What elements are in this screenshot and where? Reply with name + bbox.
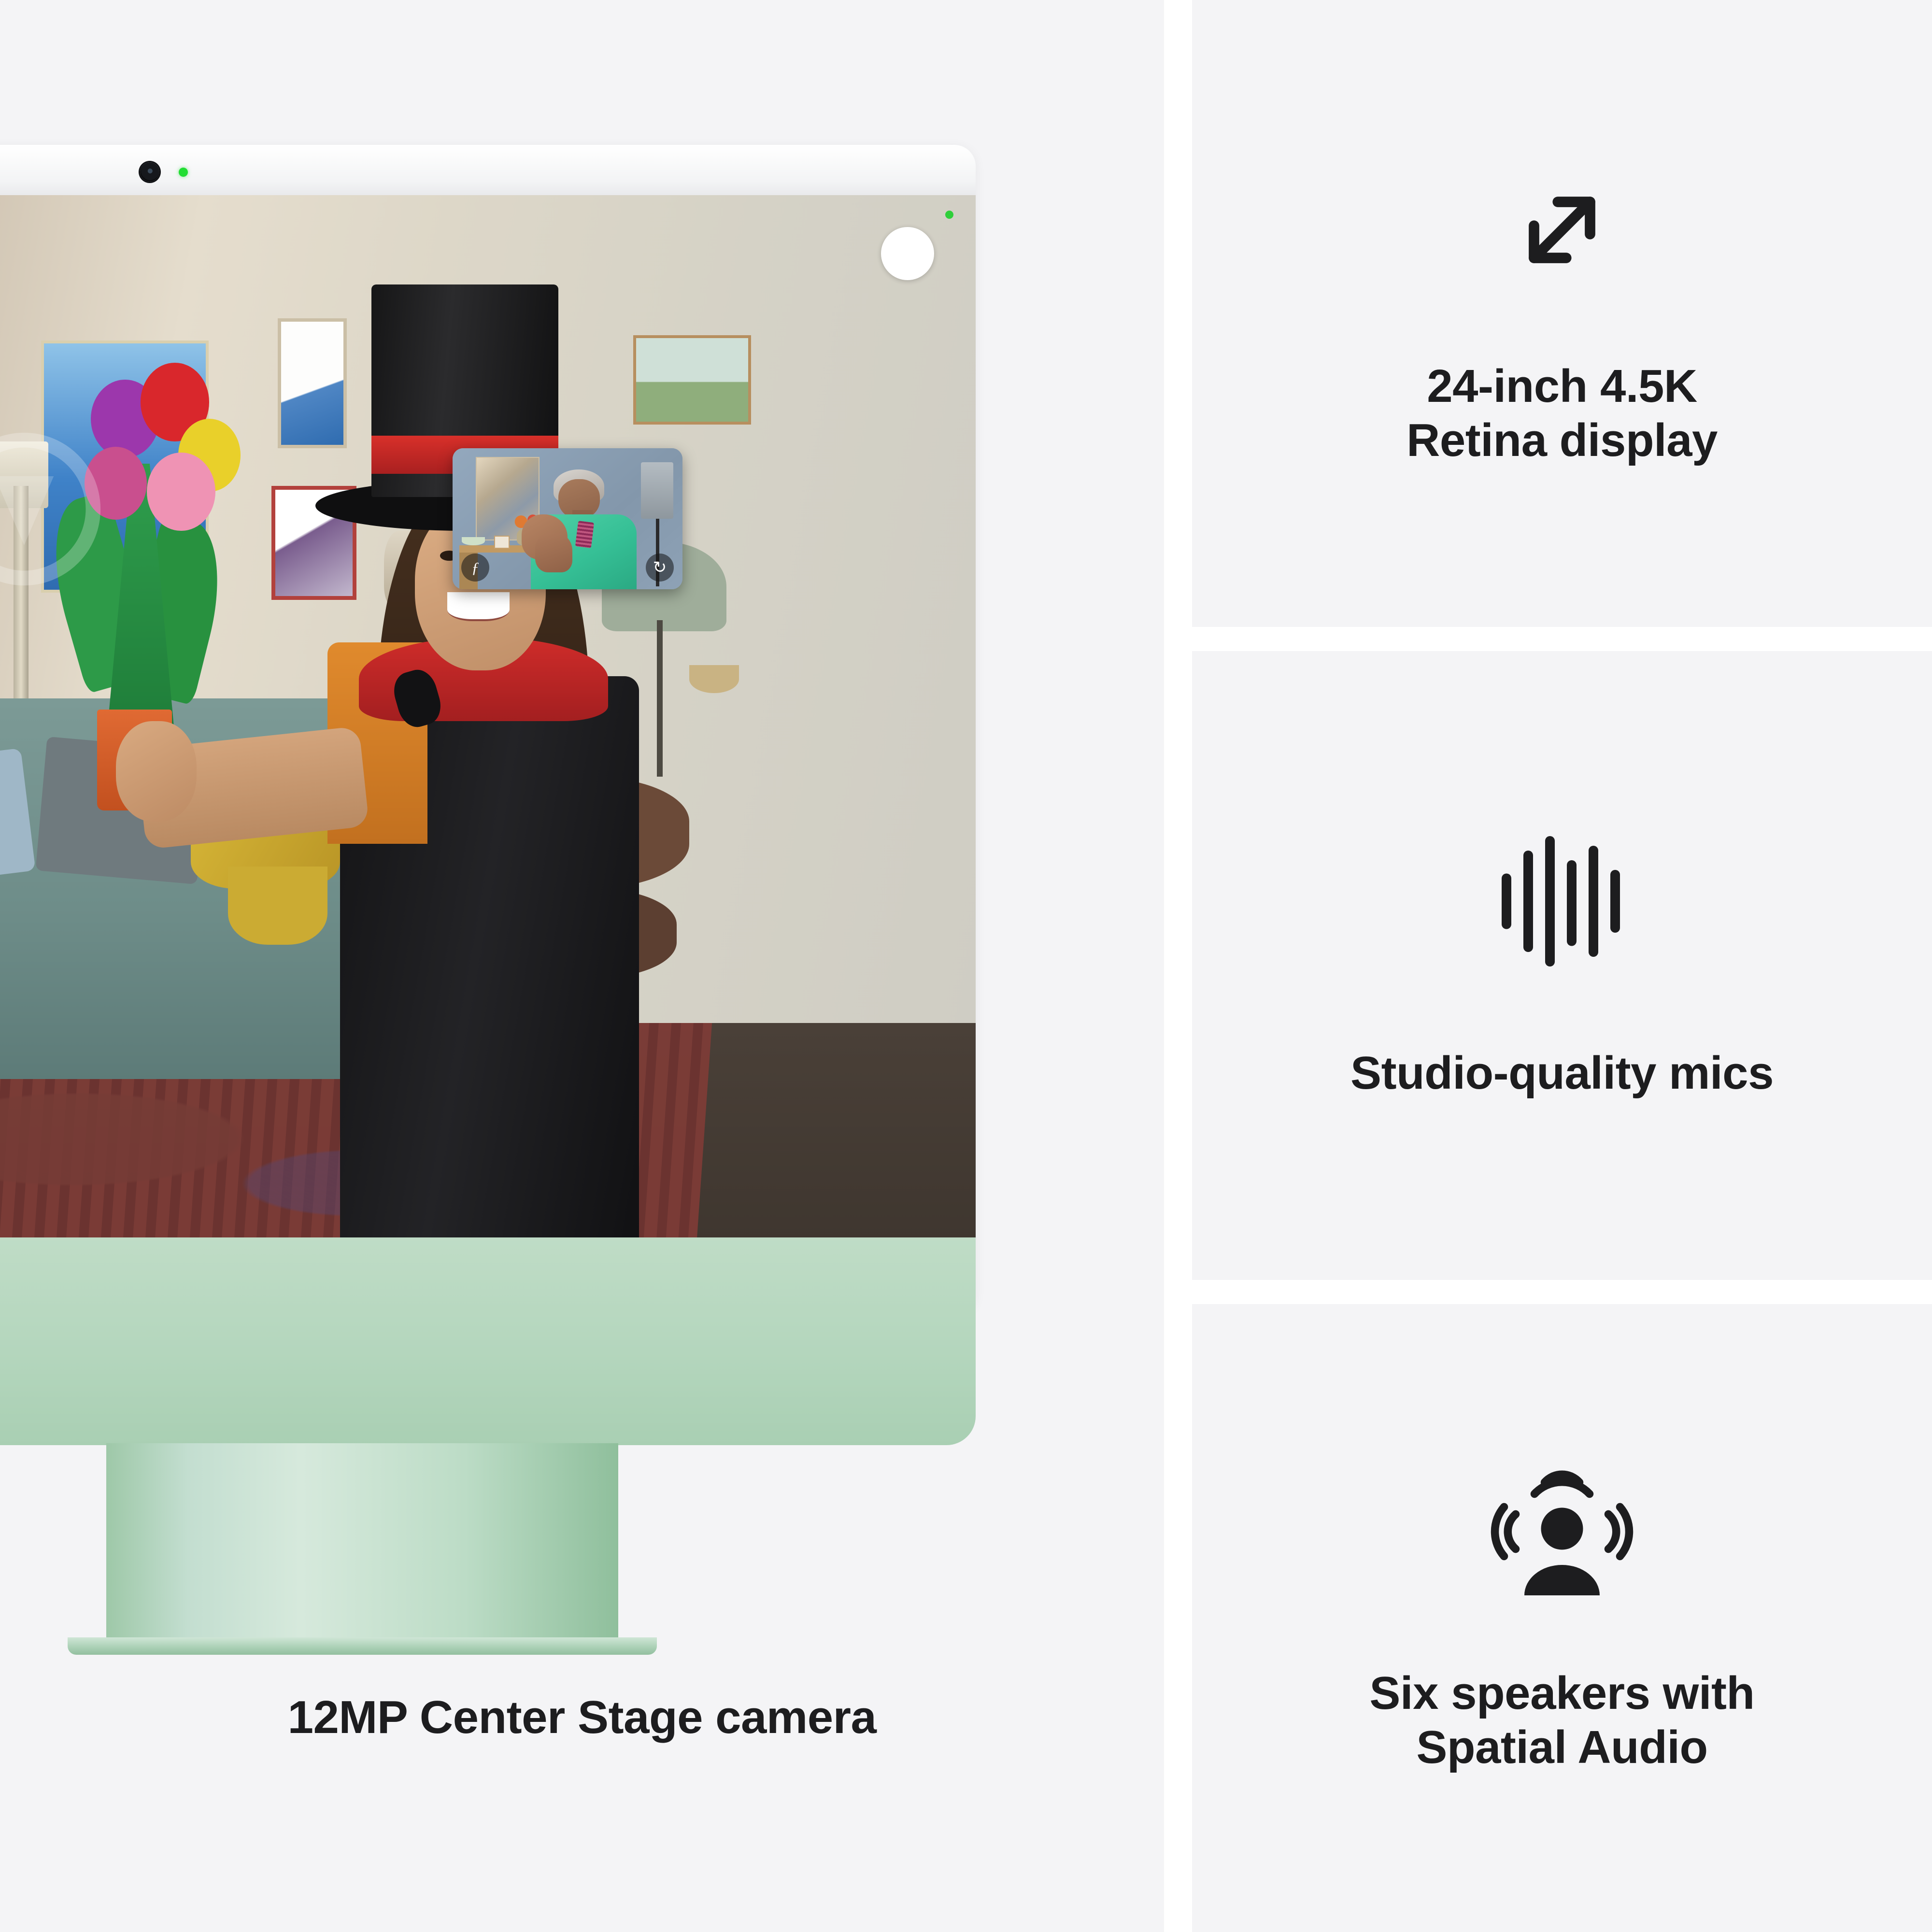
scene-flower: [147, 453, 215, 531]
camera-indicator-led-icon: [179, 168, 188, 177]
pip-effects-button[interactable]: ƒ: [461, 554, 489, 582]
speakers-caption: Six speakers with Spatial Audio: [1369, 1666, 1754, 1774]
imac-stand-neck: [106, 1443, 618, 1646]
imac-stand-foot: [68, 1637, 657, 1655]
scene-girl-smile: [447, 592, 510, 621]
scene-wall-art: [278, 318, 347, 448]
panel-display: 24-inch 4.5K Retina display: [1192, 0, 1932, 627]
screenshot-stage: ƒ ↻ 12MP Center Stage camera: [0, 0, 1932, 1932]
facetime-main-video: ƒ ↻: [0, 195, 976, 1314]
camera-lens-icon: [140, 162, 159, 182]
scene-toy: [228, 867, 327, 945]
pip-lamp-shade: [641, 462, 673, 519]
scene-table-lamp-pole: [657, 620, 663, 777]
expand-diagonal-arrows-icon: [1492, 160, 1632, 302]
imac-display-screen: ƒ ↻: [0, 195, 976, 1314]
imac-screen-assembly: ƒ ↻: [0, 145, 976, 1314]
audio-waveform-icon: [1490, 831, 1634, 974]
scene-girl-hand: [116, 721, 197, 822]
scene-bowl: [689, 665, 739, 693]
facetime-recording-led-icon: [945, 211, 953, 219]
display-caption: 24-inch 4.5K Retina display: [1406, 359, 1718, 467]
panel-camera: ƒ ↻ 12MP Center Stage camera: [0, 0, 1164, 1932]
panel-mics: Studio-quality mics: [1192, 651, 1932, 1280]
imac-chin: [0, 1237, 976, 1445]
spatial-audio-person-icon: [1490, 1462, 1634, 1609]
pip-person-hand: [535, 533, 572, 572]
mics-caption: Studio-quality mics: [1350, 1046, 1774, 1100]
pip-flip-camera-button[interactable]: ↻: [646, 554, 674, 582]
panel-speakers: Six speakers with Spatial Audio: [1192, 1304, 1932, 1932]
scene-flower: [85, 447, 147, 520]
facetime-pip-window[interactable]: ƒ ↻: [453, 448, 682, 589]
camera-caption: 12MP Center Stage camera: [0, 1690, 1164, 1744]
pip-photo-frame: [494, 536, 510, 549]
pip-person-necklace: [575, 521, 594, 548]
scene-wall-art: [633, 335, 751, 425]
imac-device: ƒ ↻: [0, 145, 976, 1314]
facetime-shutter-button[interactable]: [881, 227, 934, 280]
